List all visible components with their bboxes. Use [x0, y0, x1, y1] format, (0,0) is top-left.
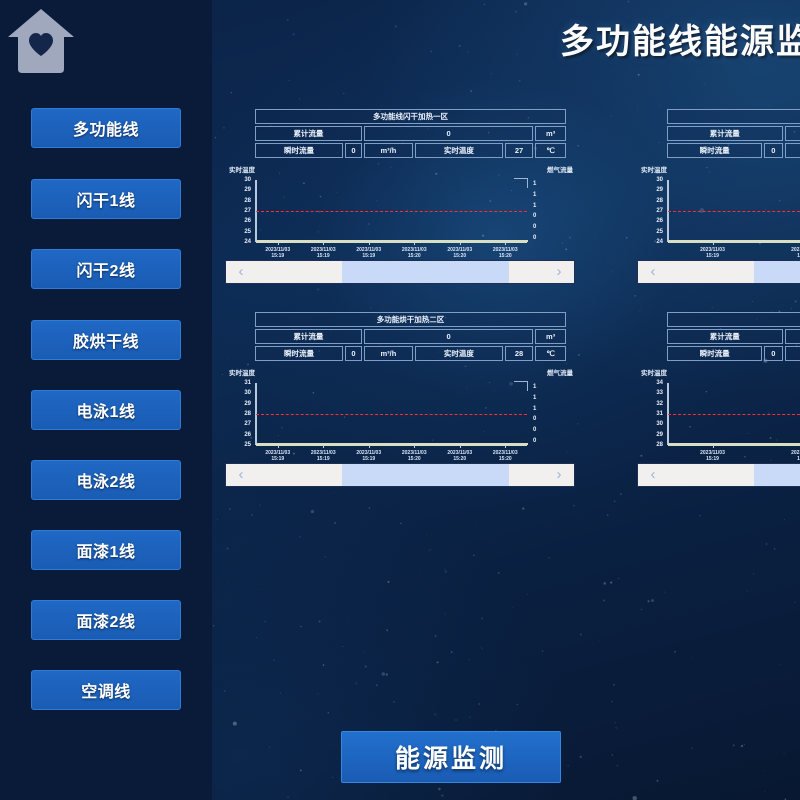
chart-left-axis-caption: 实时温度 [229, 164, 255, 174]
sidebar-item-label: 面漆1线 [77, 538, 136, 562]
cumulative-flow-value [785, 126, 800, 141]
sidebar-item-2[interactable]: 闪干2线 [31, 249, 181, 289]
chart-right-ytick-label: 1 [533, 395, 536, 401]
panel-data-table: 多功累计流量m³瞬时流量0m³/h实时温度℃ [665, 310, 800, 363]
chart-ytick-label: 30 [645, 177, 663, 183]
instant-flow-value: 0 [764, 143, 782, 158]
cumulative-flow-unit: m³ [535, 329, 566, 344]
chart-xtick [323, 242, 324, 245]
chart-xtick-label: 2023/11/0315:19 [347, 450, 391, 462]
instant-flow-label: 瞬时流量 [255, 143, 343, 158]
scroll-track[interactable] [668, 464, 800, 486]
chart-ytick-label: 24 [645, 239, 663, 245]
chart-ytick-label: 34 [645, 380, 663, 386]
instant-flow-label: 瞬时流量 [667, 346, 762, 361]
chart-ytick-label: 29 [645, 187, 663, 193]
chart-ytick-label: 26 [233, 432, 251, 438]
panel-data-table: 多功能烘干加热二区累计流量0m³瞬时流量0m³/h实时温度28℃ [253, 310, 568, 363]
cumulative-flow-label: 累计流量 [667, 329, 783, 344]
chart-ytick-label: 26 [645, 218, 663, 224]
instant-flow-value: 0 [345, 143, 362, 158]
sidebar-item-label: 闪干2线 [77, 257, 136, 281]
sidebar-item-4[interactable]: 电泳1线 [31, 390, 181, 430]
chart-left-axis-caption: 实时温度 [641, 164, 667, 174]
sidebar-item-1[interactable]: 闪干1线 [31, 179, 181, 219]
sidebar-item-8[interactable]: 空调线 [31, 670, 181, 710]
chart-series-line-1 [256, 445, 527, 446]
chart-xtick-label: 2023/11/0315:19 [301, 450, 345, 462]
chart-right-ytick-label: 0 [533, 213, 536, 219]
panel-title: 多功能烘干加热二区 [255, 312, 566, 327]
chart-xtick-label: 2023/11/0315:20 [438, 247, 482, 259]
chart-right-ytick-label: 0 [533, 224, 536, 230]
scroll-thumb[interactable] [342, 261, 509, 283]
scroll-thumb[interactable] [342, 464, 509, 486]
chart-xtick-label: 2023/11/0315:20 [392, 247, 436, 259]
chart-xtick-label: 2023/11/0315:20 [483, 247, 527, 259]
chart-ytick-label: 28 [645, 198, 663, 204]
chart-ytick-label: 29 [233, 401, 251, 407]
panel-chart: 实时温度302928272625242023/11/0315:192023/11… [637, 164, 800, 254]
monitor-panel-0: 多功能线闪干加热一区累计流量0m³瞬时流量0m³/h实时温度27℃实时温度燃气流… [225, 107, 575, 284]
chart-right-ytick-label: 1 [533, 192, 536, 198]
chart-right-axis-connector [514, 178, 528, 188]
chart-right-ytick-label: 1 [533, 406, 536, 412]
chart-xtick-label: 2023/11/0315:20 [438, 450, 482, 462]
sidebar-item-7[interactable]: 面漆2线 [31, 600, 181, 640]
sidebar-item-label: 多功能线 [73, 116, 139, 140]
realtime-temp-unit: ℃ [535, 143, 566, 158]
chart-left-axis-caption: 实时温度 [641, 367, 667, 377]
scroll-prev-arrow-icon[interactable]: ‹ [226, 261, 256, 283]
panel-chart: 实时温度343332313029282023/11/0315:192023/11… [637, 367, 800, 457]
chart-right-axis-caption: 燃气流量 [547, 367, 573, 377]
realtime-temp-label: 实时温度 [415, 143, 503, 158]
scroll-thumb[interactable] [754, 464, 800, 486]
chart-right-ytick-label: 0 [533, 427, 536, 433]
instant-flow-unit: m³/h [364, 143, 413, 158]
chart-ytick-label: 28 [233, 411, 251, 417]
sidebar-item-3[interactable]: 胶烘干线 [31, 320, 181, 360]
chart-ytick-label: 28 [645, 442, 663, 448]
chart-xtick-label: 2023/11/0315:19 [256, 450, 300, 462]
chart-xtick-label: 2023/11/0315:19 [347, 247, 391, 259]
instant-flow-label: 瞬时流量 [255, 346, 343, 361]
monitor-panel-3: 多功累计流量m³瞬时流量0m³/h实时温度℃实时温度34333231302928… [637, 310, 800, 487]
scroll-next-arrow-icon[interactable]: › [544, 261, 574, 283]
panel-horizontal-scrollbar[interactable]: ‹› [225, 260, 575, 284]
chart-ytick-label: 30 [233, 177, 251, 183]
chart-xtick [460, 242, 461, 245]
cumulative-flow-label: 累计流量 [255, 126, 362, 141]
scroll-prev-arrow-icon[interactable]: ‹ [638, 261, 668, 283]
chart-xtick-label: 2023/11/0315:19 [301, 247, 345, 259]
chart-xtick [505, 445, 506, 448]
chart-ytick-label: 27 [233, 421, 251, 427]
realtime-temp-unit: ℃ [535, 346, 566, 361]
scroll-track[interactable] [668, 261, 800, 283]
panel-data-table: 多功能线闪干加热一区累计流量0m³瞬时流量0m³/h实时温度27℃ [253, 107, 568, 160]
chart-xtick-label: 2023/11/0315:20 [483, 450, 527, 462]
chart-xtick-label: 2023/11/0315:20 [392, 450, 436, 462]
sidebar-item-label: 空调线 [81, 678, 131, 702]
chart-xtick-label: 2023/11/0315:19 [691, 247, 735, 259]
instant-flow-unit: m³/h [785, 143, 800, 158]
chart-right-axis-caption: 燃气流量 [547, 164, 573, 174]
sidebar-item-label: 胶烘干线 [73, 328, 139, 352]
panel-chart: 实时温度燃气流量302928272625241110002023/11/0315… [225, 164, 575, 254]
panel-horizontal-scrollbar[interactable]: ‹› [637, 260, 800, 284]
home-heart-icon[interactable] [4, 6, 78, 76]
scroll-track[interactable] [256, 261, 544, 283]
sidebar-item-6[interactable]: 面漆1线 [31, 530, 181, 570]
monitor-panel-2: 多功能烘干加热二区累计流量0m³瞬时流量0m³/h实时温度28℃实时温度燃气流量… [225, 310, 575, 487]
chart-series-line-0 [256, 414, 527, 415]
monitor-panel-1: 多功能累计流量m³瞬时流量0m³/h实时温度℃实时温度3029282726252… [637, 107, 800, 284]
chart-xtick [414, 242, 415, 245]
panel-horizontal-scrollbar[interactable]: ‹› [225, 463, 575, 487]
panel-title: 多功能 [667, 109, 800, 124]
chart-series-line-0 [668, 414, 800, 415]
chart-xtick [713, 445, 714, 448]
chart-xtick [414, 445, 415, 448]
chart-ytick-label: 28 [233, 198, 251, 204]
chart-series-line-0 [668, 211, 800, 212]
chart-series-line-1 [256, 242, 527, 243]
chart-ytick-label: 31 [645, 411, 663, 417]
chart-series-line-1 [668, 242, 800, 243]
scroll-prev-arrow-icon[interactable]: ‹ [638, 464, 668, 486]
instant-flow-unit: m³/h [785, 346, 800, 361]
chart-ytick-label: 30 [233, 390, 251, 396]
panel-chart: 实时温度燃气流量313029282726251110002023/11/0315… [225, 367, 575, 457]
sidebar-item-5[interactable]: 电泳2线 [31, 460, 181, 500]
instant-flow-label: 瞬时流量 [667, 143, 762, 158]
instant-flow-value: 0 [345, 346, 362, 361]
sidebar-item-label: 闪干1线 [77, 187, 136, 211]
instant-flow-value: 0 [764, 346, 782, 361]
chart-ytick-label: 27 [233, 208, 251, 214]
chart-xtick [278, 445, 279, 448]
chart-ytick-label: 27 [645, 208, 663, 214]
chart-xtick [278, 242, 279, 245]
chart-xtick-label: 2023/11/0315:19 [782, 450, 800, 462]
chart-ytick-label: 29 [233, 187, 251, 193]
chart-series-line-1 [668, 445, 800, 446]
chart-right-axis-connector [514, 381, 528, 391]
sidebar-item-label: 电泳1线 [77, 398, 136, 422]
chart-right-ytick-label: 1 [533, 181, 536, 187]
chart-xtick [713, 242, 714, 245]
cumulative-flow-value: 0 [364, 126, 533, 141]
chart-xtick [369, 445, 370, 448]
chart-xtick-label: 2023/11/0315:19 [256, 247, 300, 259]
chart-ytick-label: 31 [233, 380, 251, 386]
chart-xtick [460, 445, 461, 448]
scroll-next-arrow-icon[interactable]: › [544, 464, 574, 486]
chart-xtick [369, 242, 370, 245]
instant-flow-unit: m³/h [364, 346, 413, 361]
chart-ytick-label: 26 [233, 218, 251, 224]
chart-ytick-label: 33 [645, 390, 663, 396]
chart-ytick-label: 25 [233, 229, 251, 235]
chart-right-ytick-label: 1 [533, 203, 536, 209]
cumulative-flow-label: 累计流量 [255, 329, 362, 344]
energy-monitoring-button[interactable]: 能源监测 [341, 731, 561, 783]
realtime-temp-value: 28 [505, 346, 533, 361]
panel-data-table: 多功能累计流量m³瞬时流量0m³/h实时温度℃ [665, 107, 800, 160]
chart-right-ytick-label: 0 [533, 235, 536, 241]
sidebar-item-label: 电泳2线 [77, 468, 136, 492]
chart-right-ytick-label: 0 [533, 438, 536, 444]
chart-xtick-label: 2023/11/0315:19 [782, 247, 800, 259]
chart-ytick-label: 32 [645, 401, 663, 407]
cumulative-flow-unit: m³ [535, 126, 566, 141]
sidebar-item-label: 面漆2线 [77, 608, 136, 632]
panel-horizontal-scrollbar[interactable]: ‹› [637, 463, 800, 487]
chart-ytick-label: 25 [645, 229, 663, 235]
cumulative-flow-value [785, 329, 800, 344]
cumulative-flow-value: 0 [364, 329, 533, 344]
chart-xtick [323, 445, 324, 448]
chart-xtick [505, 242, 506, 245]
panel-title: 多功 [667, 312, 800, 327]
chart-ytick-label: 30 [645, 421, 663, 427]
chart-ytick-label: 25 [233, 442, 251, 448]
sidebar: 多功能线闪干1线闪干2线胶烘干线电泳1线电泳2线面漆1线面漆2线空调线 [0, 0, 212, 800]
cumulative-flow-label: 累计流量 [667, 126, 783, 141]
chart-series-line-0 [256, 211, 527, 212]
realtime-temp-value: 27 [505, 143, 533, 158]
scroll-track[interactable] [256, 464, 544, 486]
sidebar-item-0[interactable]: 多功能线 [31, 108, 181, 148]
panel-title: 多功能线闪干加热一区 [255, 109, 566, 124]
scroll-thumb[interactable] [754, 261, 800, 283]
chart-right-ytick-label: 0 [533, 416, 536, 422]
chart-right-ytick-label: 1 [533, 384, 536, 390]
chart-left-axis-caption: 实时温度 [229, 367, 255, 377]
chart-xtick-label: 2023/11/0315:19 [691, 450, 735, 462]
realtime-temp-label: 实时温度 [415, 346, 503, 361]
chart-ytick-label: 24 [233, 239, 251, 245]
scroll-prev-arrow-icon[interactable]: ‹ [226, 464, 256, 486]
chart-ytick-label: 29 [645, 432, 663, 438]
page-title: 多功能线能源监 [560, 14, 800, 63]
